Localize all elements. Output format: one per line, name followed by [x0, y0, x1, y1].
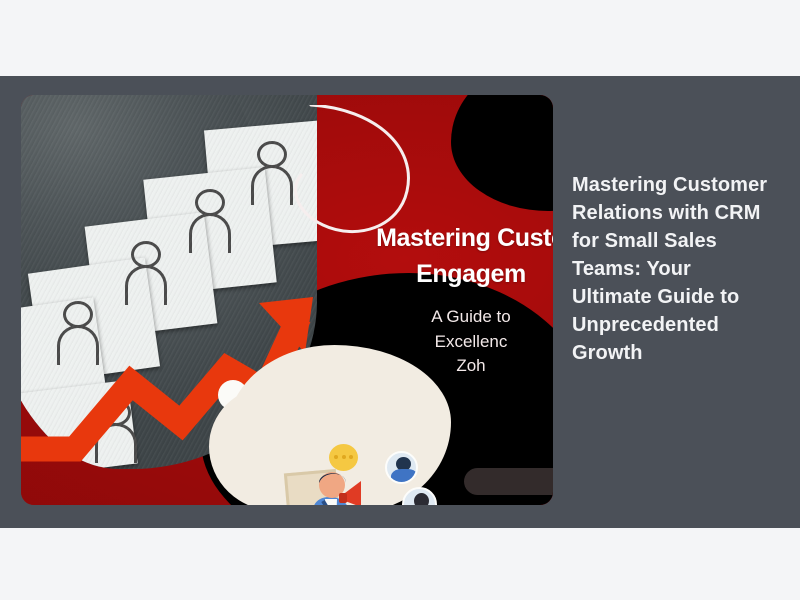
thumbnail-cta-button[interactable]	[464, 468, 553, 495]
paper-cutout	[204, 120, 317, 250]
stick-figure-icon	[245, 141, 301, 203]
thumbnail-headline-group: Mastering Custo Engagem A Guide to Excel…	[321, 221, 553, 379]
article-thumbnail-card[interactable]: Mastering Custo Engagem A Guide to Excel…	[21, 95, 553, 505]
thumbnail-subline-1: A Guide to	[321, 305, 553, 330]
person-with-megaphone-illustration	[303, 463, 361, 505]
speech-bubble-dots	[334, 455, 353, 459]
article-panel: Mastering Custo Engagem A Guide to Excel…	[0, 76, 800, 528]
article-title[interactable]: Mastering Customer Relations with CRM fo…	[572, 171, 772, 367]
page-root: Mastering Custo Engagem A Guide to Excel…	[0, 0, 800, 600]
thumbnail-subline-2: Excellenc	[321, 330, 553, 355]
thumbnail-subline-3: Zoh	[321, 354, 553, 379]
thumbnail-headline-line1: Mastering Custo	[321, 221, 553, 257]
thumbnail-headline-line2: Engagem	[321, 257, 553, 293]
avatar	[385, 451, 418, 484]
stick-figure-icon	[183, 189, 239, 251]
